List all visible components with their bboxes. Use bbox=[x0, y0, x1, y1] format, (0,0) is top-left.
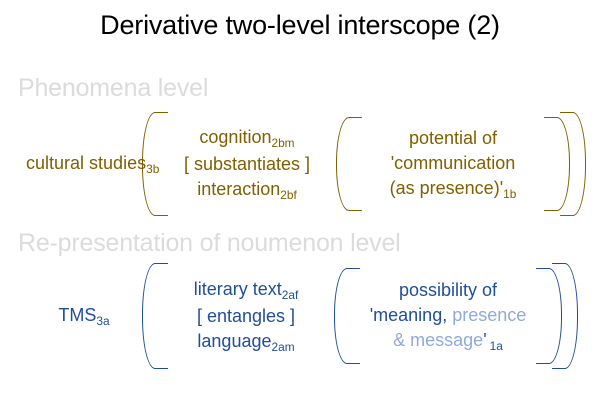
agent-line-1-subscript: 3a bbox=[96, 314, 109, 328]
group-line-1: cognition2bm bbox=[158, 125, 336, 152]
level-caption-noumenon: Re-presentation of noumenon level bbox=[18, 228, 401, 258]
group-line-3: & message'1a bbox=[350, 328, 546, 355]
group-line-2-text-a: 'meaning, bbox=[370, 305, 453, 325]
group-line-1: literary text2af bbox=[158, 277, 334, 304]
level-row-phenomena: cultural studies3b cognition2bm [ substa… bbox=[0, 112, 600, 216]
group-line-3: language2am bbox=[158, 329, 334, 356]
group-line-3-text: language bbox=[197, 331, 271, 351]
group-line-3-subscript: 1a bbox=[490, 339, 503, 353]
group-line-3-text: interaction bbox=[197, 179, 280, 199]
group-potential-communication: potential of 'communication (as presence… bbox=[352, 126, 554, 203]
group-line-3-text-a: & message bbox=[393, 330, 483, 350]
agent-label-tms: TMS3a bbox=[26, 303, 142, 329]
group-line-1-subscript: 2af bbox=[282, 288, 299, 302]
group-line-3: interaction2bf bbox=[158, 177, 336, 204]
group-literary-text-language: literary text2af [ entangles ] language2… bbox=[158, 277, 334, 356]
group-line-3-subscript: 1b bbox=[503, 187, 516, 201]
group-line-3-text: (as presence)' bbox=[390, 178, 503, 198]
group-possibility-meaning: possibility of 'meaning, presence & mess… bbox=[350, 278, 546, 355]
group-line-2: 'communication bbox=[352, 151, 554, 176]
group-line-1-subscript: 2bm bbox=[271, 136, 294, 150]
agent-line-2-text: studies bbox=[89, 153, 146, 173]
level-row-noumenon: TMS3a literary text2af [ entangles ] lan… bbox=[0, 263, 600, 369]
group-line-2: 'meaning, presence bbox=[350, 303, 546, 328]
group-line-1: potential of bbox=[352, 126, 554, 151]
group-cognition-interaction: cognition2bm [ substantiates ] interacti… bbox=[158, 125, 336, 204]
inner-open-paren-phenomena bbox=[336, 112, 352, 216]
agent-label-cultural-studies: cultural studies3b bbox=[26, 151, 142, 177]
agent-line-1: TMS3a bbox=[58, 305, 109, 325]
outer-close-paren-noumenon bbox=[562, 263, 578, 369]
group-line-2-text-b: presence bbox=[452, 305, 526, 325]
group-line-2: [ entangles ] bbox=[158, 304, 334, 329]
inner-open-paren-noumenon bbox=[334, 263, 350, 369]
group-line-3: (as presence)'1b bbox=[352, 176, 554, 203]
group-line-1-text: cognition bbox=[199, 127, 271, 147]
level-caption-phenomena: Phenomena level bbox=[18, 73, 208, 103]
agent-line-1: cultural bbox=[26, 153, 84, 173]
group-line-3-text-b: ' bbox=[483, 330, 486, 350]
outer-open-paren-phenomena bbox=[142, 112, 158, 216]
outer-open-paren-noumenon bbox=[142, 263, 158, 369]
outer-close-paren-phenomena bbox=[570, 112, 586, 216]
agent-line-1-text: TMS bbox=[58, 305, 96, 325]
group-line-1-text: literary text bbox=[194, 279, 282, 299]
group-line-3-subscript: 2bf bbox=[280, 188, 297, 202]
group-line-1: possibility of bbox=[350, 278, 546, 303]
group-line-2: [ substantiates ] bbox=[158, 152, 336, 177]
page-title: Derivative two-level interscope (2) bbox=[0, 8, 600, 42]
group-line-3-subscript: 2am bbox=[271, 340, 294, 354]
